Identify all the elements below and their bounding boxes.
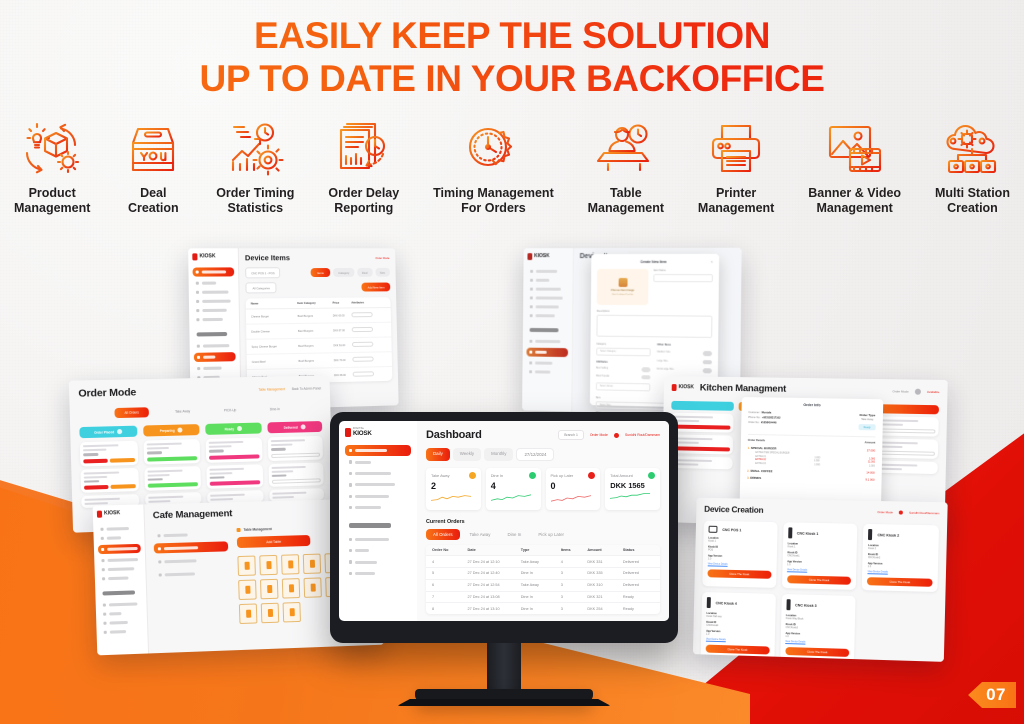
column-title: Preparing — [160, 428, 175, 432]
count-badge — [237, 426, 242, 431]
cell-order-no: 4 — [432, 560, 468, 564]
sidebar-section-device-management — [349, 523, 391, 527]
headline-line-1: EASILY KEEP THE SOLUTION — [0, 14, 1024, 57]
slide-headline: EASILY KEEP THE SOLUTION UP TO DATE IN Y… — [0, 14, 1024, 100]
kitchen-order-card[interactable] — [874, 416, 939, 436]
field-value: Kiosk Way Block — [786, 617, 850, 622]
avatar[interactable] — [915, 388, 921, 394]
tab-deal[interactable]: Deal — [357, 268, 372, 277]
clone-kiosk-button[interactable]: Clone The Kiosk — [707, 569, 771, 578]
sidebar-item-dashboard[interactable] — [345, 445, 411, 456]
feature-label: Multi Station Creation — [935, 186, 1010, 215]
stat-cards: Take Away 2 Dine In 4 — [426, 468, 660, 510]
table-cell[interactable] — [303, 554, 321, 574]
tab-weekly[interactable]: Weekly — [453, 448, 481, 461]
extra-qty: 1.000 — [814, 464, 820, 466]
sidebar-item-items[interactable] — [526, 348, 568, 357]
extra-name: EXTRA 03 — [755, 462, 766, 464]
extra-amount: 1.000 — [869, 465, 875, 467]
order-mode-button[interactable]: Order Mode — [375, 256, 389, 260]
feature-label: Deal Creation — [128, 186, 179, 215]
slide-canvas: EASILY KEEP THE SOLUTION UP TO DATE IN Y… — [0, 0, 1024, 724]
table-cell[interactable] — [239, 603, 258, 624]
logo-main: KIOSK — [353, 431, 372, 437]
sidebar-item-dashboard[interactable] — [527, 267, 569, 276]
sidebar-item-settings[interactable] — [526, 367, 568, 377]
kitchen-order-card[interactable] — [873, 438, 938, 459]
sidebar-item-customer-list[interactable] — [345, 502, 411, 513]
amount-label: Amount — [865, 440, 876, 444]
nav-table-management[interactable] — [154, 541, 229, 553]
sidebar-item-available-devices[interactable] — [194, 341, 236, 351]
tab-all-orders[interactable]: All Orders — [114, 407, 149, 418]
dashboard-main: Dashboard Branch 1 Order Mode Sunidhi Ro… — [417, 421, 669, 621]
date-input[interactable]: 27/12/2024 — [516, 448, 554, 461]
cell-order-no: 7 — [432, 595, 468, 599]
cell-amount: DKK 335 — [587, 571, 623, 575]
table-row[interactable]: 6 27 Dec 24 at 12:54 Take Away 3 DKK 310… — [426, 580, 660, 592]
cell-status: Ready — [623, 595, 654, 599]
page-title: Device Creation — [704, 504, 763, 515]
stat-card-dine-in: Dine In 4 — [486, 468, 541, 510]
order-card[interactable] — [267, 436, 323, 461]
sidebar-item-orders[interactable] — [193, 278, 235, 287]
add-new-item-button[interactable]: Add New Item — [362, 283, 391, 292]
table-cell[interactable] — [282, 578, 300, 598]
cell-items: 3 — [561, 607, 588, 611]
page-title: Cafe Management — [153, 508, 233, 521]
order-card[interactable] — [206, 464, 262, 489]
modal-title: Create New Item — [640, 259, 666, 263]
sidebar-item-kitchen-management[interactable] — [193, 297, 235, 306]
table-row[interactable]: 4 27 Dec 24 at 12:10 Take Away 4 DKK 331… — [426, 556, 660, 568]
device-name: CNC Kiosk 4 — [716, 601, 737, 606]
tab-items[interactable]: Items — [310, 268, 331, 277]
sidebar-item-available-devices[interactable] — [345, 534, 411, 545]
sidebar-item-user-management[interactable] — [527, 302, 569, 311]
table-cell[interactable] — [260, 579, 278, 600]
table-cell[interactable] — [261, 603, 279, 624]
tab-daily[interactable]: Daily — [426, 448, 450, 461]
order-no-label: Order No — [748, 421, 759, 424]
item-name: SPECIAL BURGER — [751, 446, 777, 451]
size-label: Medium Size — [657, 352, 670, 354]
table-row[interactable]: 7 27 Dec 24 at 13:08 Dine In 3 DKK 321 R… — [426, 592, 660, 604]
item-category: Beef Burgers — [298, 329, 333, 333]
product-management-icon — [21, 118, 83, 180]
status-badge: Ready — [859, 424, 876, 430]
clone-kiosk-button[interactable]: Clone The Kiosk — [867, 577, 932, 587]
banner-video-management-icon — [824, 118, 886, 180]
cell-order-no: 5 — [432, 571, 468, 575]
device-name: CNC Kiosk 3 — [795, 603, 817, 608]
page-title: Kitchen Managment — [700, 382, 786, 394]
stat-value: 4 — [491, 482, 536, 492]
sidebar-item-available-devices[interactable] — [527, 337, 569, 346]
modal-title: Order Info — [749, 402, 877, 408]
group-select[interactable]: Select Group — [596, 382, 650, 391]
tab-pick-up[interactable]: PICK-Up — [216, 405, 245, 416]
cell-amount: DKK 310 — [587, 583, 623, 587]
tab-category[interactable]: Category — [333, 268, 354, 277]
feature-order-delay-reporting: Order Delay Reporting — [328, 118, 399, 215]
column-title: Delivered — [284, 425, 298, 429]
current-orders-title: Current Orders — [426, 519, 660, 525]
clone-kiosk-button[interactable]: Clone The Kiosk — [787, 575, 852, 585]
order-mode-button[interactable]: Order Mode — [892, 389, 908, 393]
deal-creation-icon — [124, 118, 182, 180]
count-badge — [178, 428, 183, 433]
branch-selector[interactable]: Branch 1 — [558, 430, 584, 440]
kanban-column-ready: Ready — [205, 423, 263, 504]
feature-icon-row: Product Management Deal Creation — [14, 118, 1010, 215]
kanban-column-preparing: Preparing — [143, 424, 202, 506]
feature-product-management: Product Management — [14, 118, 90, 215]
device-name: CNC Kiosk 1 — [797, 531, 819, 535]
headline-line-2: UP TO DATE IN YOUR BACKOFFICE — [0, 57, 1024, 100]
notification-icon[interactable] — [899, 510, 903, 514]
sidebar-item-user-management[interactable] — [193, 306, 235, 316]
cell-type: Dine In — [521, 571, 561, 575]
cell-items: 4 — [561, 560, 588, 564]
kiosk-icon — [868, 529, 872, 540]
extra-qty: 1.000 — [814, 457, 820, 459]
clone-kiosk-button[interactable]: Clone The Kiosk — [785, 647, 850, 657]
table-cell[interactable] — [259, 555, 277, 575]
feature-order-timing-statistics: Order Timing Statistics — [216, 118, 294, 215]
sparkline — [491, 494, 531, 502]
item-name: Spicy Cheese Burger — [252, 344, 299, 348]
field-value: Kiosk 2 — [868, 547, 933, 551]
column-header: Attributes — [351, 300, 386, 304]
order-delay-reporting-icon — [333, 118, 395, 180]
table-header-row: Order No Date Type Items Amount Status — [426, 545, 660, 557]
order-mode-button[interactable]: Order Mode — [590, 433, 608, 437]
item-price: DKK 87.00 — [333, 329, 352, 332]
item-price: DKK 76.00 — [334, 358, 353, 361]
sidebar-item-cafe-management[interactable] — [345, 468, 411, 479]
timing-management-for-orders-icon — [461, 118, 525, 180]
field-value: CNCKiosk1 — [787, 554, 851, 558]
order-card[interactable] — [144, 466, 201, 491]
feature-label: Order Timing Statistics — [216, 186, 294, 215]
sidebar-item-settings[interactable] — [101, 626, 144, 637]
count-badge — [117, 429, 122, 434]
column-title: Ready — [225, 427, 235, 431]
category-select[interactable]: Select Category — [596, 348, 650, 357]
toggle-medium-size[interactable] — [703, 351, 712, 356]
order-mode-link[interactable]: Order Mode — [877, 510, 893, 514]
cell-order-no: 6 — [432, 583, 468, 587]
phone-value: +923128317102 — [762, 416, 781, 419]
field-value: 1.0 — [868, 565, 933, 570]
app-logo: DIGITAL KIOSK — [345, 428, 411, 437]
sparkline — [431, 494, 471, 502]
sidebar-item-dashboard[interactable] — [193, 267, 235, 276]
cell-status: Ready — [623, 607, 654, 611]
category-selector[interactable]: All Categories — [245, 282, 277, 293]
sidebar-item-customer-list[interactable] — [99, 573, 142, 583]
kanban-column-delivered: Delivered — [267, 421, 324, 502]
order-type-label: Order Type — [859, 413, 876, 417]
order-card[interactable] — [206, 437, 262, 462]
device-selector[interactable]: CNC POS 1 - POS — [245, 267, 281, 278]
tab-monthly[interactable]: Monthly — [484, 448, 513, 461]
view-device-details-link[interactable]: View Device Details — [787, 569, 851, 573]
image-picker-sub: Click To Select The File — [612, 294, 633, 296]
nav-printer-management[interactable] — [155, 567, 230, 579]
app-logo: KIOSK — [672, 384, 694, 391]
sidebar-item-customer-list[interactable] — [527, 311, 569, 320]
cell-items: 3 — [561, 571, 588, 575]
item-name: Grand Beef — [252, 359, 299, 363]
sidebar-section-device-management — [197, 332, 228, 337]
cell-date: 27 Dec 24 at 12:54 — [468, 583, 521, 587]
toggle-best-selling[interactable] — [641, 367, 650, 372]
field-value: CNCKiosk3 — [786, 626, 850, 631]
column-header: Date — [468, 548, 521, 552]
table-cell[interactable] — [281, 554, 299, 574]
sidebar-item-cafe-management[interactable] — [527, 285, 569, 294]
field-value: Kiosk 1 — [788, 545, 852, 549]
column-title: Order Placed — [94, 430, 114, 435]
order-type-value: Take Away — [859, 418, 876, 421]
order-card[interactable] — [268, 462, 324, 487]
cell-type: Dine In — [521, 595, 561, 599]
order-details-label: Order Details — [748, 438, 765, 442]
monitor-neck — [487, 643, 521, 689]
sidebar-item-items[interactable] — [194, 352, 236, 362]
table-cell[interactable] — [238, 579, 257, 600]
account-menu[interactable]: Sunidhi Rout/Dammam — [625, 433, 660, 437]
monitor-base-shadow — [397, 699, 611, 706]
feature-banner-video-management: Banner & Video Management — [808, 118, 901, 215]
tab-pick-up-later[interactable]: Pick up Later — [531, 529, 571, 540]
item-category: Beef Burgers — [298, 344, 333, 348]
item-name-input[interactable] — [653, 274, 712, 282]
device-creation-screenshot[interactable]: Device Creation Order Mode Sunidhi Rout/… — [693, 498, 948, 662]
kitchen-order-card[interactable] — [670, 456, 732, 469]
device-card[interactable]: CNC Kiosk 1 Location Kiosk 1 Kiosk ID CN… — [782, 522, 858, 590]
cell-status: Delivered — [623, 560, 654, 564]
item-price: DKK 69.00 — [333, 314, 352, 317]
description-label: Description — [597, 310, 713, 314]
image-picker-title: Choose Item Image — [611, 289, 635, 292]
column-header: Items — [561, 548, 588, 552]
view-device-details-link[interactable]: View Device Details — [706, 639, 770, 643]
item-name: DRINKS — [750, 475, 761, 479]
stat-card-take-away: Take Away 2 — [426, 468, 481, 510]
tab-dine-in[interactable]: Dine In — [500, 529, 528, 540]
nav-cafe-settings[interactable] — [153, 528, 228, 540]
image-picker[interactable]: Choose Item Image Click To Select The Fi… — [597, 269, 649, 305]
clone-kiosk-button[interactable]: Clone The Kiosk — [706, 645, 770, 655]
order-type-tabs: All Orders Take Away Dine In Pick up Lat… — [426, 529, 660, 540]
cell-type: Take Away — [521, 583, 561, 587]
field-value: Kiosk Hall way — [706, 615, 770, 620]
item-price: DKK 68.00 — [334, 373, 353, 376]
desktop-monitor: DIGITAL KIOSK — [330, 412, 678, 706]
app-logo: KIOSK — [192, 253, 234, 260]
feature-multi-station-creation: Multi Station Creation — [935, 118, 1010, 215]
attribute-label: Most Popular — [596, 375, 609, 377]
customer-label: Customer — [748, 411, 759, 414]
kiosk-icon — [786, 599, 790, 610]
page-title: Dashboard — [426, 429, 482, 441]
cell-status: Delivered — [623, 583, 654, 587]
description-input[interactable] — [596, 315, 712, 338]
toggle-large-size[interactable] — [703, 360, 712, 365]
view-device-details-link[interactable]: View Device Details — [785, 641, 849, 645]
table-cell[interactable] — [283, 602, 301, 623]
upload-icon — [618, 278, 627, 287]
stat-indicator — [469, 472, 476, 479]
section-label: Table Management — [243, 527, 271, 532]
sparkline — [610, 492, 650, 500]
cell-order-no: 8 — [432, 607, 468, 611]
cell-amount: DKK 254 — [587, 607, 623, 611]
kanban-column-order-placed: Order Placed — [79, 426, 139, 508]
attribute-label: Best Selling — [596, 368, 608, 370]
toggle-xl-size[interactable] — [703, 368, 712, 373]
feature-label: Printer Management — [698, 186, 774, 215]
order-timing-statistics-icon — [224, 118, 286, 180]
item-category: Beef Burgers — [298, 314, 333, 317]
table-row[interactable]: 8 27 Dec 24 at 13:10 Dine In 3 DKK 254 R… — [426, 603, 660, 614]
tab-size[interactable]: Size — [375, 268, 390, 277]
column-header: Amount — [587, 548, 623, 552]
item-name-label: Item Name — [653, 269, 712, 272]
stat-card-pick-up-later: Pick up Later 0 — [546, 468, 601, 510]
order-card[interactable] — [143, 439, 200, 464]
sidebar-item-orders[interactable] — [345, 456, 411, 467]
item-category: Beef Burgers — [298, 359, 333, 363]
table-management-icon — [596, 118, 656, 180]
sidebar-item-kitchen-management[interactable] — [527, 293, 569, 302]
tab-take-away[interactable]: Take Away — [463, 529, 498, 540]
sidebar-item-customer-list[interactable] — [193, 315, 235, 325]
extra-name: EXTRA 01 — [755, 455, 766, 457]
device-card[interactable]: CNC Kiosk 4 Location Kiosk Hall way Kios… — [701, 592, 776, 660]
add-table-button[interactable]: Add Table — [237, 535, 311, 548]
back-to-admin-panel-link[interactable]: Back To Admin Panel — [292, 386, 321, 391]
sidebar-item-kitchen-management[interactable] — [345, 479, 411, 490]
feature-printer-management: Printer Management — [698, 118, 774, 215]
order-card[interactable] — [80, 441, 138, 466]
item-price: DKK 51.00 — [333, 344, 352, 347]
sidebar-item-orders[interactable] — [527, 276, 569, 285]
field-value: 1.0 — [708, 557, 772, 561]
order-card[interactable] — [81, 467, 139, 492]
table-icon — [237, 528, 241, 532]
stat-value: 0 — [551, 482, 596, 492]
field-value: 1.0 — [785, 635, 849, 640]
device-card[interactable]: CNC Kiosk 3 Location Kiosk Way Block Kio… — [780, 594, 856, 662]
feature-label: Table Management — [588, 186, 664, 215]
app-logo: KIOSK — [527, 253, 569, 260]
item-amount: 9.1 000 — [865, 478, 874, 481]
view-device-details-link[interactable]: View Device Details — [867, 571, 932, 575]
tab-take-away[interactable]: Take Away — [167, 406, 198, 417]
cell-amount: DKK 321 — [587, 595, 623, 599]
close-icon[interactable]: × — [711, 259, 713, 264]
feature-table-management: Table Management — [588, 118, 664, 215]
customer-value: Mustafa — [762, 411, 772, 414]
size-label: Large Size — [657, 360, 668, 362]
item-name: Cheese Burger — [251, 314, 298, 318]
bell-icon[interactable] — [614, 433, 619, 438]
field-value: CNCKiosk4 — [706, 624, 770, 629]
sidebar-item-user-management[interactable] — [345, 491, 411, 502]
sidebar-section-device-management — [530, 328, 559, 332]
sidebar-item-cafe-management[interactable] — [98, 544, 141, 554]
cell-type: Dine In — [521, 607, 561, 611]
cell-date: 27 Dec 24 at 13:10 — [468, 607, 521, 611]
sidebar-item-vouchers[interactable] — [345, 556, 411, 567]
column-header: Name — [251, 301, 298, 305]
kitchen-order-card[interactable] — [670, 434, 732, 454]
cell-date: 27 Dec 24 at 12:40 — [468, 571, 521, 575]
cell-amount: DKK 331 — [587, 560, 623, 564]
view-device-details-link[interactable]: View Device Details — [708, 563, 772, 566]
table-management-link[interactable]: Table Management — [258, 387, 285, 392]
field-value: POS — [708, 549, 772, 553]
feature-label: Product Management — [14, 186, 90, 215]
sidebar-item-settings[interactable] — [345, 568, 411, 579]
availability-status[interactable]: Available — [927, 389, 939, 393]
table-cell[interactable] — [237, 556, 256, 577]
item-amount: 27.000 — [867, 449, 875, 452]
tab-dine-in[interactable]: Dine-In — [262, 404, 288, 415]
field-value: 1.0 — [706, 633, 770, 638]
sidebar-item-cafe-management[interactable] — [193, 288, 235, 297]
feature-timing-management-for-orders: Timing Management For Orders — [433, 118, 554, 215]
sidebar-item-orders[interactable] — [98, 533, 141, 543]
column-header: Status — [623, 548, 654, 552]
other-sizes-label: Other Sizes — [657, 343, 712, 347]
sparkline — [551, 494, 591, 502]
device-name: CNC POS 1 — [722, 527, 741, 531]
table-row[interactable]: 5 27 Dec 24 at 12:40 Dine In 3 DKK 335 D… — [426, 568, 660, 580]
kiosk-icon — [707, 597, 711, 608]
dashboard-sidebar: DIGITAL KIOSK — [339, 421, 417, 621]
item-amount: 14.000 — [866, 471, 874, 474]
attributes-label: Attributes — [596, 360, 650, 364]
page-title: Order Mode — [78, 386, 136, 399]
feature-deal-creation: Deal Creation — [124, 118, 182, 215]
device-name: CNC Kiosk 2 — [877, 533, 899, 537]
feature-label: Order Delay Reporting — [328, 186, 399, 215]
column-header: Price — [332, 301, 351, 305]
dashboard-screen[interactable]: DIGITAL KIOSK — [339, 421, 669, 621]
kitchen-order-card[interactable] — [671, 413, 733, 433]
cell-items: 3 — [561, 595, 588, 599]
app-logo: KIOSK — [97, 510, 140, 518]
stat-indicator — [648, 472, 655, 479]
column-header: Type — [521, 548, 561, 552]
page-title: Device Items — [245, 253, 290, 262]
nav-kitchen-management[interactable] — [154, 554, 229, 566]
kitchen-order-card[interactable] — [873, 461, 938, 475]
count-badge — [301, 424, 306, 429]
tab-all-orders[interactable]: All Orders — [426, 529, 460, 540]
device-card[interactable]: CNC Kiosk 2 Location Kiosk 2 Kiosk ID CN… — [862, 524, 939, 592]
account-link[interactable]: Sunidhi Rout/Dammam — [909, 511, 939, 516]
table-cell[interactable] — [304, 577, 322, 597]
device-card[interactable]: CNC POS 1 Location Kiosk 1 Kiosk ID POS … — [702, 521, 777, 588]
toggle-most-popular[interactable] — [641, 375, 650, 380]
sidebar-item-items[interactable] — [345, 545, 411, 556]
